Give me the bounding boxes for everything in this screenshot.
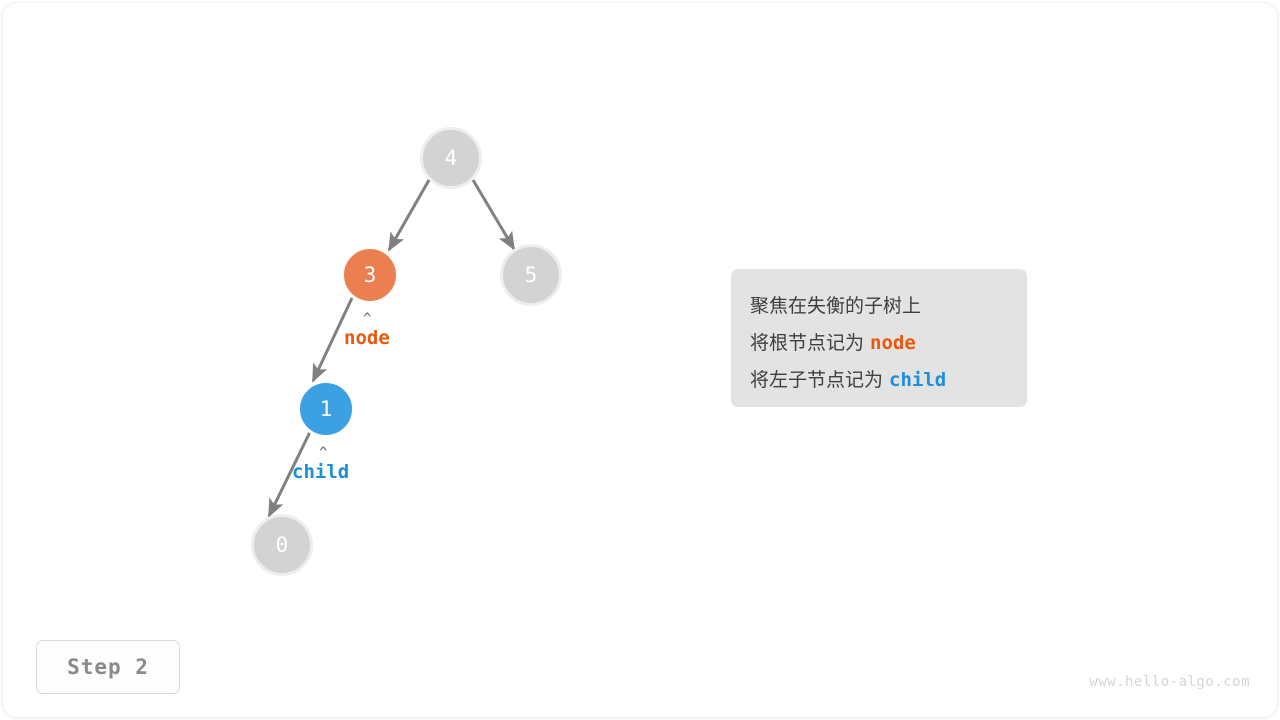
child-pointer-label: child <box>292 463 349 482</box>
child-pointer-caret: ^ <box>319 446 327 460</box>
tree-node-4-value: 4 <box>445 148 458 169</box>
note-line-3-text: 将左子节点记为 <box>750 370 883 391</box>
tree-node-5-value: 5 <box>525 265 538 286</box>
note-line-2: 将根节点记为node <box>750 325 1027 362</box>
node-pointer-label: node <box>344 329 390 348</box>
note-line-2-text: 将根节点记为 <box>750 333 864 354</box>
tree-node-1-value: 1 <box>320 399 333 420</box>
tree-node-1[interactable]: 1 <box>297 380 355 438</box>
note-line-3: 将左子节点记为child <box>750 362 1027 399</box>
note-line-1: 聚焦在失衡的子树上 <box>750 289 1027 325</box>
tree-node-3-value: 3 <box>364 265 377 286</box>
tree-node-5[interactable]: 5 <box>500 244 562 306</box>
tree-node-3[interactable]: 3 <box>341 246 399 304</box>
note-line-2-code: node <box>864 332 916 354</box>
edge-4-to-3 <box>389 180 429 250</box>
step-badge-label: Step 2 <box>67 655 149 679</box>
tree-edges-layer <box>0 0 1280 720</box>
note-line-1-text: 聚焦在失衡的子树上 <box>750 296 921 317</box>
tree-node-4[interactable]: 4 <box>420 127 482 189</box>
diagram-canvas: 4 3 5 1 0 ^ node ^ child 聚焦在失衡的子树上 将根节点记… <box>0 0 1280 720</box>
node-pointer-caret: ^ <box>363 312 371 326</box>
watermark: www.hello-algo.com <box>1089 674 1250 690</box>
tree-node-0[interactable]: 0 <box>251 514 313 576</box>
tree-node-0-value: 0 <box>276 535 289 556</box>
annotation-note-box: 聚焦在失衡的子树上 将根节点记为node 将左子节点记为child <box>731 269 1027 407</box>
step-badge: Step 2 <box>36 640 180 694</box>
edge-4-to-5 <box>473 180 514 249</box>
note-line-3-code: child <box>883 369 946 391</box>
